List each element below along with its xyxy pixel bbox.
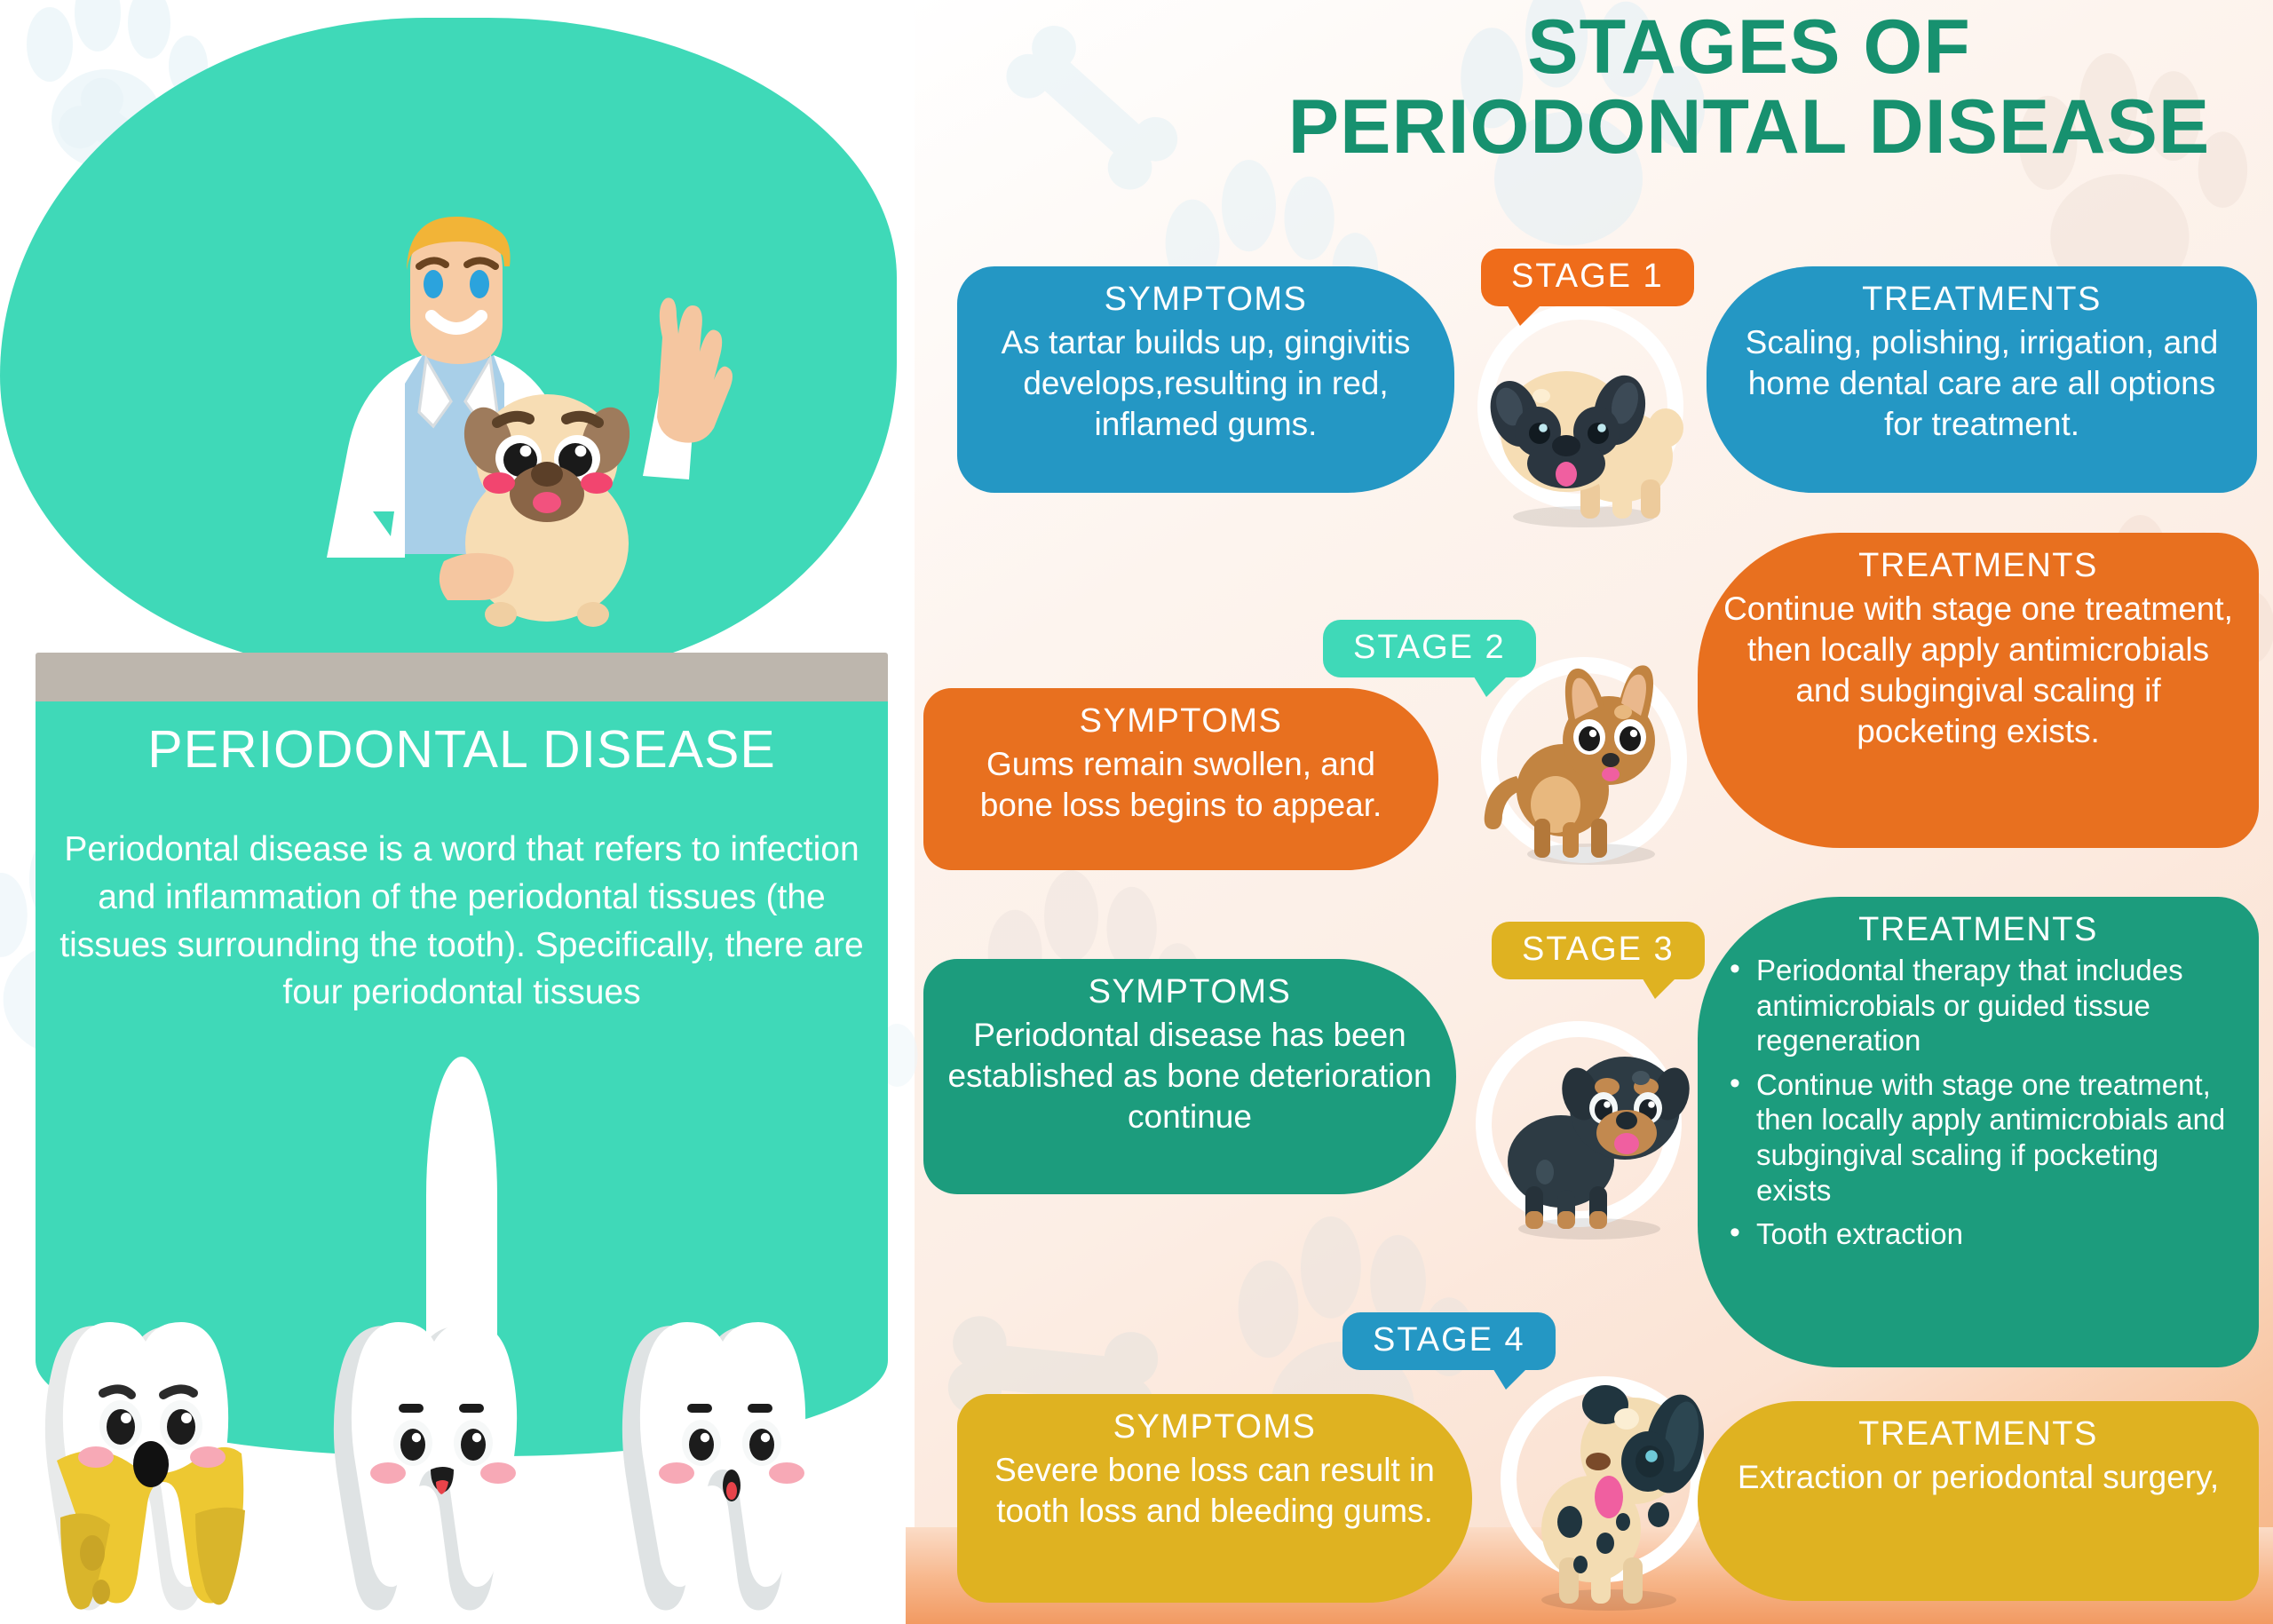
stage1-treatments-card[interactable]: TREATMENTS Scaling, polishing, irrigatio… bbox=[1707, 266, 2257, 493]
stage2-treatments-header: TREATMENTS bbox=[1721, 547, 2236, 585]
stage1-symptoms-header: SYMPTOMS bbox=[980, 281, 1431, 319]
page-title-line1: STAGES OF bbox=[1225, 7, 2273, 87]
list-item: Continue with stage one treatment, then … bbox=[1721, 1067, 2236, 1208]
stage4-symptoms-card[interactable]: SYMPTOMS Severe bone loss can result in … bbox=[957, 1394, 1472, 1603]
stage2-treatments-card[interactable]: TREATMENTS Continue with stage one treat… bbox=[1698, 533, 2259, 848]
stage3-symptoms-header: SYMPTOMS bbox=[946, 973, 1433, 1011]
pug-dog bbox=[1456, 329, 1714, 533]
page-title: STAGES OF PERIODONTAL DISEASE bbox=[1225, 7, 2273, 168]
page-title-line2: PERIODONTAL DISEASE bbox=[1225, 87, 2273, 167]
list-item: Periodontal therapy that includes antimi… bbox=[1721, 953, 2236, 1058]
stage3-treatments-header: TREATMENTS bbox=[1721, 911, 2236, 949]
stage2-symptoms-text: Gums remain swollen, and bone loss begin… bbox=[946, 744, 1415, 826]
stage1-badge[interactable]: STAGE 1 bbox=[1481, 249, 1694, 306]
surprised-tooth bbox=[595, 1304, 888, 1624]
list-item: Tooth extraction bbox=[1721, 1216, 2236, 1252]
stage1-treatments-header: TREATMENTS bbox=[1730, 281, 2234, 319]
chihuahua-dog bbox=[1463, 648, 1703, 870]
happy-tooth bbox=[306, 1304, 599, 1624]
stage4-treatments-card[interactable]: TREATMENTS Extraction or periodontal sur… bbox=[1698, 1401, 2259, 1601]
stage3-badge[interactable]: STAGE 3 bbox=[1492, 922, 1705, 979]
stage3-treatments-list: Periodontal therapy that includes antimi… bbox=[1721, 953, 2236, 1252]
decayed-tooth bbox=[18, 1304, 311, 1624]
dalmatian-dog bbox=[1474, 1359, 1740, 1616]
intro-panel-heading: PERIODONTAL DISEASE bbox=[36, 719, 888, 780]
stage2-symptoms-card[interactable]: SYMPTOMS Gums remain swollen, and bone l… bbox=[923, 688, 1438, 870]
stage4-treatments-text: Extraction or periodontal surgery, bbox=[1721, 1457, 2236, 1498]
stage1-symptoms-card[interactable]: SYMPTOMS As tartar builds up, gingivitis… bbox=[957, 266, 1454, 493]
stage1-symptoms-text: As tartar builds up, gingivitis develops… bbox=[980, 322, 1431, 445]
stage4-symptoms-header: SYMPTOMS bbox=[980, 1408, 1449, 1446]
stage3-treatments-card[interactable]: TREATMENTS Periodontal therapy that incl… bbox=[1698, 897, 2259, 1367]
stage4-treatments-header: TREATMENTS bbox=[1721, 1415, 2236, 1454]
teeth-illustration bbox=[0, 1296, 915, 1624]
stage4-symptoms-text: Severe bone loss can result in tooth los… bbox=[980, 1450, 1449, 1532]
stage1-treatments-text: Scaling, polishing, irrigation, and home… bbox=[1730, 322, 2234, 445]
stage2-symptoms-header: SYMPTOMS bbox=[946, 702, 1415, 741]
stage2-treatments-text: Continue with stage one treatment, then … bbox=[1721, 589, 2236, 752]
stage3-symptoms-card[interactable]: SYMPTOMS Periodontal disease has been es… bbox=[923, 959, 1456, 1194]
rottweiler-dog bbox=[1458, 1012, 1715, 1243]
veterinarian-figure bbox=[231, 213, 852, 675]
stage3-symptoms-text: Periodontal disease has been established… bbox=[946, 1015, 1433, 1137]
intro-panel-text: Periodontal disease is a word that refer… bbox=[53, 826, 870, 1017]
infographic-root: PERIODONTAL DISEASE Periodontal disease … bbox=[0, 0, 2273, 1624]
